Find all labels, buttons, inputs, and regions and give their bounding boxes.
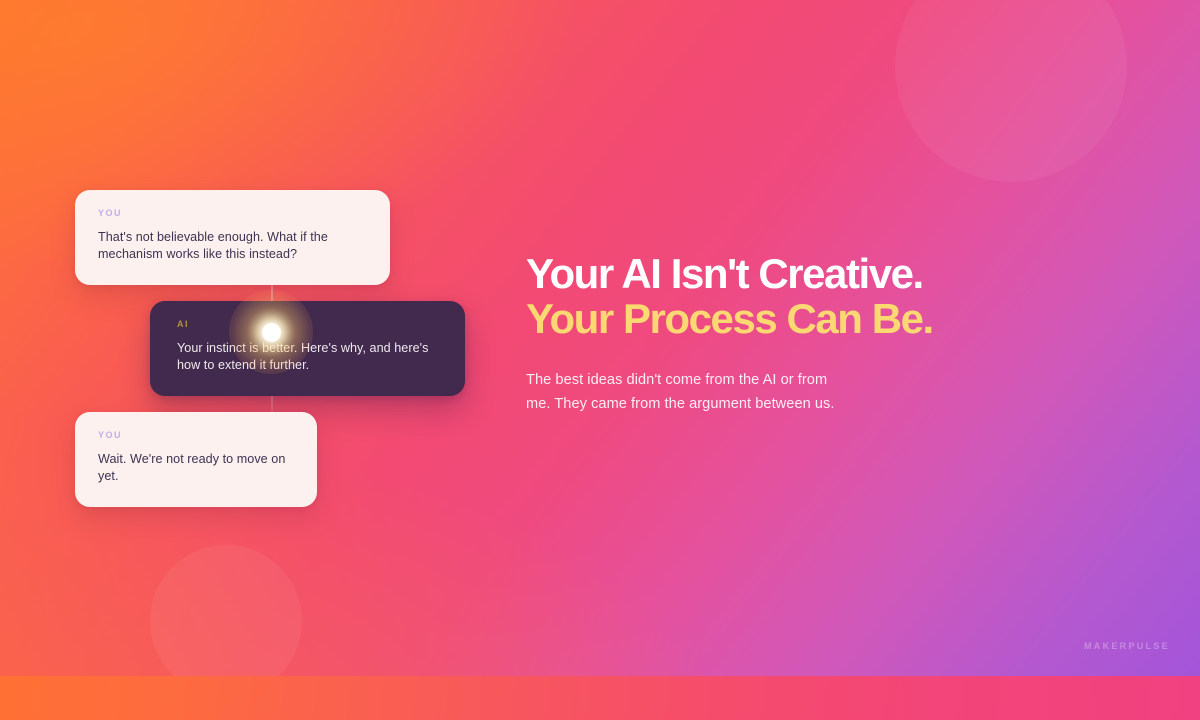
- chat-role-label: YOU: [98, 209, 367, 218]
- chat-message-text: That's not believable enough. What if th…: [98, 229, 367, 264]
- brand-watermark: MAKERPULSE: [1084, 641, 1170, 651]
- chat-bubble-user-2[interactable]: YOU Wait. We're not ready to move on yet…: [75, 412, 317, 507]
- subheadline-line-1: The best ideas didn't come from the AI o…: [526, 368, 871, 392]
- subheadline-line-2: me. They came from the argument between …: [526, 392, 871, 416]
- hero-subheadline: The best ideas didn't come from the AI o…: [526, 368, 871, 416]
- chat-role-label: YOU: [98, 431, 294, 440]
- conversation-thread: YOU That's not believable enough. What i…: [0, 0, 520, 676]
- page-title: Your AI Isn't Creative. Your Process Can…: [526, 252, 1126, 342]
- hero-slide: YOU That's not believable enough. What i…: [0, 0, 1200, 720]
- bottom-accent-bar: [0, 676, 1200, 720]
- chat-message-text: Wait. We're not ready to move on yet.: [98, 451, 294, 486]
- hero-copy: Your AI Isn't Creative. Your Process Can…: [526, 252, 1126, 416]
- chat-message-text: Your instinct is better. Here's why, and…: [177, 340, 442, 375]
- headline-line-1: Your AI Isn't Creative.: [526, 252, 1126, 297]
- chat-bubble-user-1[interactable]: YOU That's not believable enough. What i…: [75, 190, 390, 285]
- chat-bubble-ai[interactable]: AI Your instinct is better. Here's why, …: [150, 301, 465, 396]
- chat-role-label: AI: [177, 320, 442, 329]
- headline-line-2: Your Process Can Be.: [526, 297, 1126, 342]
